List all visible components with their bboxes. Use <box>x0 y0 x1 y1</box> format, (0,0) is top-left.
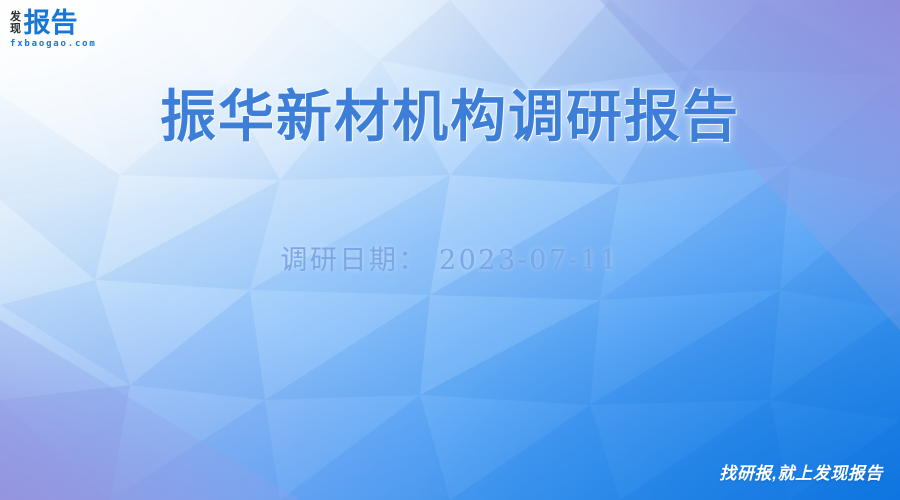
survey-date-line: 调研日期： 2023-07-11 <box>0 238 900 277</box>
report-cover-slide: 发 现 报告 fxbaogao.com 振华新材机构调研报告 调研日期： 202… <box>0 0 900 500</box>
title-block: 振华新材机构调研报告 <box>0 86 900 149</box>
logo-mark-characters: 发 现 <box>10 11 21 35</box>
logo-mark-bottom: 现 <box>10 24 21 36</box>
page-title: 振华新材机构调研报告 <box>0 86 900 149</box>
brand-logo[interactable]: 发 现 报告 fxbaogao.com <box>10 9 97 49</box>
logo-wordmark: 报告 <box>24 9 78 37</box>
logo-wordmark-row: 发 现 报告 <box>10 9 78 37</box>
brand-tagline: 找研报,就上发现报告 <box>719 459 883 484</box>
logo-mark-top: 发 <box>10 12 21 24</box>
logo-url: fxbaogao.com <box>10 40 97 49</box>
